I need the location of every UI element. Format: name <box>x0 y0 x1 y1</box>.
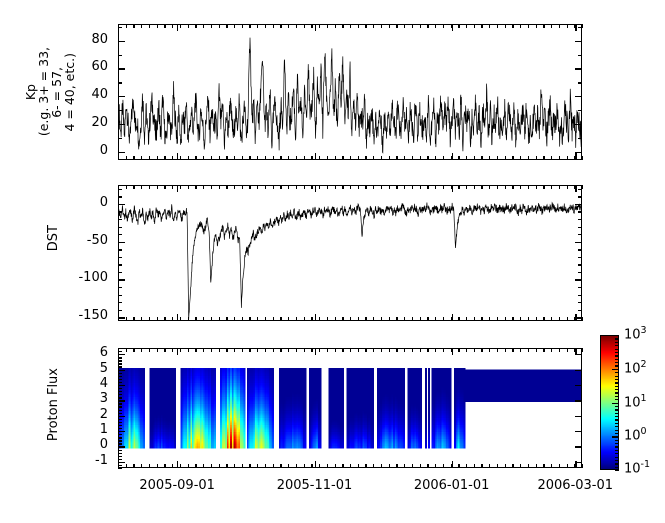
tick-mark <box>141 464 142 468</box>
tick-mark <box>567 348 568 352</box>
tick-mark <box>389 185 390 189</box>
tick-mark <box>211 317 212 321</box>
tick-mark <box>118 437 122 438</box>
tick-mark <box>578 302 582 303</box>
tick-mark <box>381 317 382 321</box>
proton-flux-ytick-label-5: 4 <box>0 376 108 391</box>
tick-mark <box>381 24 382 28</box>
tick-mark <box>296 185 297 189</box>
tick-mark <box>118 219 122 220</box>
proton-flux-ytick-label-6: 5 <box>0 361 108 376</box>
tick-mark <box>420 156 421 160</box>
tick-mark <box>311 24 312 28</box>
dst-ytick-label-1: -50 <box>0 233 108 248</box>
tick-mark <box>315 185 316 192</box>
proton-flux-ytick-label-4: 3 <box>0 391 108 406</box>
tick-mark <box>427 464 428 468</box>
tick-mark <box>118 388 122 389</box>
tick-mark <box>389 464 390 468</box>
tick-mark <box>451 348 452 352</box>
tick-mark <box>543 464 544 468</box>
tick-mark <box>280 464 281 468</box>
tick-mark <box>404 185 405 189</box>
tick-mark <box>497 348 498 352</box>
tick-mark <box>118 468 122 469</box>
tick-mark <box>141 348 142 352</box>
tick-mark <box>578 242 582 243</box>
tick-mark <box>443 317 444 321</box>
tick-mark <box>578 287 582 288</box>
tick-mark <box>280 348 281 352</box>
tick-mark <box>578 249 582 250</box>
colorbar-tick-label-4: 10-1 <box>624 459 650 476</box>
tick-mark <box>489 24 490 28</box>
tick-mark <box>412 348 413 352</box>
tick-mark <box>118 287 122 288</box>
tick-mark <box>458 185 459 189</box>
tick-mark <box>489 317 490 321</box>
tick-mark <box>188 24 189 28</box>
tick-mark <box>389 348 390 352</box>
tick-mark <box>157 185 158 189</box>
tick-mark <box>373 348 374 352</box>
tick-mark <box>443 24 444 28</box>
tick-mark <box>335 348 336 352</box>
tick-mark <box>559 185 560 189</box>
colorbar-tick-label-3: 100 <box>624 426 647 443</box>
tick-mark <box>396 348 397 352</box>
spectrogram-segment <box>181 368 217 448</box>
tick-mark <box>211 156 212 160</box>
tick-mark <box>172 317 173 321</box>
tick-mark <box>118 391 122 392</box>
tick-mark <box>373 464 374 468</box>
tick-mark <box>249 24 250 28</box>
tick-mark <box>458 156 459 160</box>
tick-mark <box>365 185 366 189</box>
tick-mark <box>575 385 582 386</box>
tick-mark <box>582 156 583 160</box>
tick-mark <box>342 156 343 160</box>
tick-mark <box>373 156 374 160</box>
tick-mark <box>304 348 305 352</box>
tick-mark <box>615 369 619 370</box>
colorbar-tick-label-2: 101 <box>624 393 647 410</box>
tick-mark <box>177 185 178 192</box>
spectrogram-segment <box>432 368 452 448</box>
tick-mark <box>118 443 122 444</box>
tick-mark <box>288 24 289 28</box>
tick-mark <box>280 185 281 189</box>
tick-mark <box>342 348 343 352</box>
tick-mark <box>466 348 467 352</box>
tick-mark <box>304 185 305 189</box>
tick-mark <box>458 317 459 321</box>
tick-mark <box>615 352 619 353</box>
tick-mark <box>489 464 490 468</box>
tick-mark <box>520 24 521 28</box>
tick-mark <box>273 464 274 468</box>
tick-mark <box>118 55 122 56</box>
tick-mark <box>226 348 227 352</box>
tick-mark <box>133 348 134 352</box>
tick-mark <box>443 156 444 160</box>
tick-mark <box>118 68 122 69</box>
tick-mark <box>350 464 351 468</box>
tick-mark <box>249 185 250 189</box>
tick-mark <box>118 376 122 377</box>
tick-mark <box>118 354 122 355</box>
tick-mark <box>118 302 122 303</box>
tick-mark <box>396 24 397 28</box>
tick-mark <box>358 317 359 321</box>
tick-mark <box>219 317 220 321</box>
tick-mark <box>195 156 196 160</box>
tick-mark <box>164 24 165 28</box>
tick-mark <box>335 464 336 468</box>
tick-mark <box>520 348 521 352</box>
tick-mark <box>304 24 305 28</box>
tick-mark <box>551 24 552 28</box>
tick-mark <box>578 96 582 97</box>
tick-mark <box>177 24 178 31</box>
tick-mark <box>219 185 220 189</box>
tick-mark <box>427 156 428 160</box>
kp-ytick-label-1: 20 <box>0 115 108 130</box>
tick-mark <box>188 156 189 160</box>
tick-mark <box>180 464 181 468</box>
tick-mark <box>118 373 122 374</box>
tick-mark <box>543 317 544 321</box>
tick-mark <box>177 461 178 468</box>
tick-mark <box>149 24 150 28</box>
tick-mark <box>615 446 619 447</box>
tick-mark <box>615 403 619 404</box>
tick-mark <box>451 464 452 468</box>
tick-mark <box>458 464 459 468</box>
tick-mark <box>615 457 619 458</box>
kp-ytick-label-0: 0 <box>0 143 108 158</box>
tick-mark <box>615 372 619 373</box>
tick-mark <box>149 348 150 352</box>
tick-mark <box>559 156 560 160</box>
tick-mark <box>350 24 351 28</box>
tick-mark <box>615 436 619 437</box>
tick-mark <box>578 196 582 197</box>
spectrogram-segment <box>119 368 145 448</box>
tick-mark <box>118 394 122 395</box>
tick-mark <box>118 196 122 197</box>
tick-mark <box>319 156 320 160</box>
tick-mark <box>118 413 122 414</box>
tick-mark <box>420 348 421 352</box>
tick-mark <box>489 156 490 160</box>
tick-mark <box>133 24 134 28</box>
tick-mark <box>551 317 552 321</box>
spectrogram-segment <box>408 368 422 448</box>
tick-mark <box>578 279 582 280</box>
tick-mark <box>466 317 467 321</box>
tick-mark <box>257 464 258 468</box>
tick-mark <box>435 348 436 352</box>
tick-mark <box>311 156 312 160</box>
tick-mark <box>164 464 165 468</box>
tick-mark <box>528 464 529 468</box>
tick-mark <box>389 317 390 321</box>
tick-mark <box>358 348 359 352</box>
tick-mark <box>335 317 336 321</box>
tick-mark <box>615 399 619 400</box>
tick-mark <box>615 396 619 397</box>
tick-mark <box>458 348 459 352</box>
tick-mark <box>296 156 297 160</box>
tick-mark <box>118 249 122 250</box>
proton-flux-ytick-label-0: -1 <box>0 453 108 468</box>
tick-mark <box>528 24 529 28</box>
colorbar-tick-label-1: 102 <box>624 359 647 376</box>
proton-flux-ytick-label-3: 2 <box>0 407 108 422</box>
tick-mark <box>365 317 366 321</box>
tick-mark <box>118 82 122 83</box>
tick-mark <box>133 156 134 160</box>
tick-mark <box>126 185 127 189</box>
tick-mark <box>118 124 122 125</box>
tick-mark <box>304 464 305 468</box>
tick-mark <box>249 348 250 352</box>
tick-mark <box>265 156 266 160</box>
tick-mark <box>118 295 122 296</box>
tick-mark <box>365 348 366 352</box>
tick-mark <box>219 24 220 28</box>
tick-mark <box>195 185 196 189</box>
tick-mark <box>512 348 513 352</box>
tick-mark <box>141 156 142 160</box>
tick-mark <box>327 348 328 352</box>
tick-mark <box>381 156 382 160</box>
tick-mark <box>273 348 274 352</box>
tick-mark <box>118 310 122 311</box>
tick-mark <box>615 450 619 451</box>
tick-mark <box>118 366 122 367</box>
tick-mark <box>451 24 452 28</box>
tick-mark <box>118 257 122 258</box>
tick-mark <box>118 428 122 429</box>
tick-mark <box>536 24 537 28</box>
tick-mark <box>389 156 390 160</box>
tick-mark <box>118 41 122 42</box>
tick-mark <box>177 153 178 160</box>
tick-mark <box>118 400 122 401</box>
tick-mark <box>615 426 619 427</box>
tick-mark <box>157 464 158 468</box>
tick-mark <box>315 24 316 31</box>
tick-mark <box>578 264 582 265</box>
tick-mark <box>536 156 537 160</box>
tick-mark <box>203 185 204 189</box>
tick-mark <box>520 317 521 321</box>
tick-mark <box>615 359 619 360</box>
tick-mark <box>126 464 127 468</box>
tick-mark <box>311 185 312 189</box>
tick-mark <box>389 24 390 28</box>
tick-mark <box>497 185 498 189</box>
tick-mark <box>234 185 235 189</box>
tick-mark <box>497 317 498 321</box>
tick-mark <box>265 185 266 189</box>
tick-mark <box>118 453 122 454</box>
tick-mark <box>164 348 165 352</box>
tick-mark <box>273 185 274 189</box>
tick-mark <box>149 317 150 321</box>
tick-mark <box>404 464 405 468</box>
tick-mark <box>118 410 122 411</box>
spectrogram-segment <box>150 368 176 448</box>
tick-mark <box>536 464 537 468</box>
dst-plot-panel <box>118 185 582 321</box>
tick-mark <box>265 317 266 321</box>
tick-mark <box>474 156 475 160</box>
tick-mark <box>575 400 582 401</box>
proton-flux-ytick-label-1: 0 <box>0 437 108 452</box>
tick-mark <box>327 185 328 189</box>
kp-ytick-label-3: 60 <box>0 59 108 74</box>
tick-mark <box>574 317 575 321</box>
tick-mark <box>578 227 582 228</box>
tick-mark <box>118 363 122 364</box>
tick-mark <box>505 156 506 160</box>
tick-mark <box>350 156 351 160</box>
tick-mark <box>373 185 374 189</box>
tick-mark <box>520 156 521 160</box>
tick-mark <box>528 185 529 189</box>
tick-mark <box>381 464 382 468</box>
tick-mark <box>358 464 359 468</box>
tick-mark <box>288 464 289 468</box>
tick-mark <box>342 317 343 321</box>
tick-mark <box>512 317 513 321</box>
tick-mark <box>615 349 619 350</box>
tick-mark <box>219 464 220 468</box>
tick-mark <box>505 317 506 321</box>
tick-mark <box>195 348 196 352</box>
tick-mark <box>211 348 212 352</box>
figure-canvas: Kp (e.g. 3+ = 33, 6- = 57, 4 = 40, etc.)… <box>0 0 665 523</box>
tick-mark <box>133 317 134 321</box>
tick-mark <box>133 464 134 468</box>
tick-mark <box>578 55 582 56</box>
tick-mark <box>481 156 482 160</box>
tick-mark <box>497 24 498 28</box>
tick-mark <box>249 317 250 321</box>
tick-mark <box>615 413 619 414</box>
tick-mark <box>412 317 413 321</box>
tick-mark <box>288 348 289 352</box>
tick-mark <box>226 156 227 160</box>
tick-mark <box>203 348 204 352</box>
tick-mark <box>582 185 583 189</box>
spectrogram-segment <box>220 368 245 448</box>
dst-series-line <box>119 203 582 320</box>
tick-mark <box>288 317 289 321</box>
tick-mark <box>474 348 475 352</box>
tick-mark <box>242 348 243 352</box>
tick-mark <box>435 24 436 28</box>
tick-mark <box>188 317 189 321</box>
tick-mark <box>118 138 122 139</box>
tick-mark <box>242 317 243 321</box>
tick-mark <box>118 416 122 417</box>
tick-mark <box>420 24 421 28</box>
tick-mark <box>327 464 328 468</box>
tick-mark <box>164 156 165 160</box>
tick-mark <box>157 317 158 321</box>
kp-series-line <box>119 38 582 153</box>
tick-mark <box>342 464 343 468</box>
tick-mark <box>543 348 544 352</box>
tick-mark <box>157 348 158 352</box>
tick-mark <box>582 464 583 468</box>
tick-mark <box>304 317 305 321</box>
tick-mark <box>543 156 544 160</box>
tick-mark <box>118 434 122 435</box>
tick-mark <box>489 348 490 352</box>
tick-mark <box>575 431 582 432</box>
tick-mark <box>615 440 619 441</box>
tick-mark <box>157 156 158 160</box>
tick-mark <box>288 185 289 189</box>
tick-mark <box>118 24 119 28</box>
tick-mark <box>234 464 235 468</box>
tick-mark <box>149 156 150 160</box>
tick-mark <box>578 310 582 311</box>
tick-mark <box>118 379 122 380</box>
tick-mark <box>373 24 374 28</box>
tick-mark <box>481 464 482 468</box>
tick-mark <box>118 385 122 386</box>
tick-mark <box>559 464 560 468</box>
tick-mark <box>582 317 583 321</box>
tick-mark <box>575 416 582 417</box>
tick-mark <box>118 459 122 460</box>
tick-mark <box>234 317 235 321</box>
tick-mark <box>615 379 619 380</box>
tick-mark <box>335 156 336 160</box>
tick-mark <box>242 185 243 189</box>
tick-mark <box>615 467 619 468</box>
tick-mark <box>118 279 122 280</box>
tick-mark <box>615 463 619 464</box>
tick-mark <box>141 317 142 321</box>
tick-mark <box>265 24 266 28</box>
tick-mark <box>118 204 122 205</box>
tick-mark <box>118 360 122 361</box>
spectrogram-segment <box>309 368 321 448</box>
tick-mark <box>335 185 336 189</box>
tick-mark <box>615 392 619 393</box>
tick-mark <box>149 464 150 468</box>
tick-mark <box>427 24 428 28</box>
tick-mark <box>296 317 297 321</box>
tick-mark <box>505 464 506 468</box>
tick-mark <box>578 272 582 273</box>
tick-mark <box>126 24 127 28</box>
tick-mark <box>466 24 467 28</box>
tick-mark <box>574 24 575 28</box>
tick-mark <box>466 185 467 189</box>
tick-mark <box>615 460 619 461</box>
tick-mark <box>180 317 181 321</box>
tick-mark <box>615 345 619 346</box>
